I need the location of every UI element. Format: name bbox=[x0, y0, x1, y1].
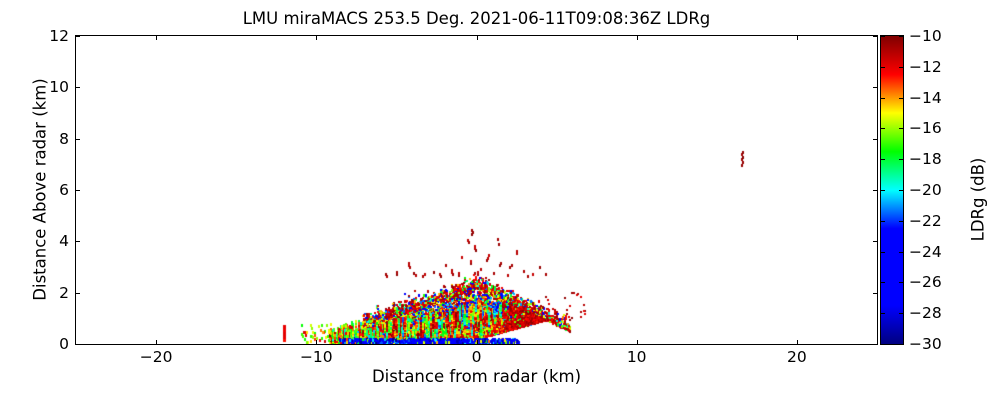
y-tick-label: 0 bbox=[59, 335, 69, 353]
x-tick-mark-top bbox=[637, 36, 638, 40]
y-tick-label: 4 bbox=[59, 232, 69, 250]
y-tick-mark-right bbox=[873, 241, 877, 242]
y-tick-mark bbox=[76, 344, 80, 345]
y-tick-mark-right bbox=[873, 190, 877, 191]
x-tick-mark bbox=[797, 340, 798, 344]
colorbar-tick-mark bbox=[899, 221, 903, 222]
colorbar-tick-mark bbox=[899, 159, 903, 160]
colorbar-tick-mark bbox=[899, 98, 903, 99]
y-tick-label: 6 bbox=[59, 181, 69, 199]
colorbar-tick-mark bbox=[899, 67, 903, 68]
colorbar-tick-label: −28 bbox=[909, 304, 942, 322]
y-tick-mark bbox=[76, 139, 80, 140]
y-tick-mark-right bbox=[873, 293, 877, 294]
colorbar[interactable] bbox=[880, 35, 904, 345]
colorbar-tick-mark bbox=[899, 128, 903, 129]
colorbar-tick-mark-left bbox=[881, 36, 885, 37]
x-axis-label: Distance from radar (km) bbox=[75, 367, 878, 386]
x-tick-mark-top bbox=[477, 36, 478, 40]
x-tick-label: −20 bbox=[140, 348, 173, 366]
colorbar-tick-mark-left bbox=[881, 159, 885, 160]
x-tick-label: −10 bbox=[300, 348, 333, 366]
colorbar-tick-mark-left bbox=[881, 344, 885, 345]
x-tick-label: 10 bbox=[627, 348, 647, 366]
y-tick-mark-right bbox=[873, 139, 877, 140]
colorbar-tick-mark bbox=[899, 282, 903, 283]
colorbar-tick-mark bbox=[899, 313, 903, 314]
y-tick-label: 12 bbox=[49, 27, 69, 45]
y-tick-mark bbox=[76, 36, 80, 37]
y-tick-mark bbox=[76, 190, 80, 191]
figure-canvas: LMU miraMACS 253.5 Deg. 2021-06-11T09:08… bbox=[0, 0, 1000, 400]
colorbar-tick-mark-left bbox=[881, 190, 885, 191]
colorbar-tick-label: −12 bbox=[909, 58, 942, 76]
scatter-plot-area[interactable] bbox=[76, 36, 877, 344]
colorbar-tick-mark bbox=[899, 190, 903, 191]
y-tick-mark-right bbox=[873, 344, 877, 345]
y-tick-label: 2 bbox=[59, 284, 69, 302]
colorbar-tick-label: −24 bbox=[909, 243, 942, 261]
x-tick-label: 20 bbox=[787, 348, 807, 366]
colorbar-tick-mark bbox=[899, 344, 903, 345]
colorbar-tick-mark-left bbox=[881, 98, 885, 99]
colorbar-tick-label: −18 bbox=[909, 150, 942, 168]
colorbar-tick-mark-left bbox=[881, 128, 885, 129]
y-tick-mark bbox=[76, 293, 80, 294]
y-tick-label: 10 bbox=[49, 78, 69, 96]
x-tick-mark-top bbox=[156, 36, 157, 40]
colorbar-tick-label: −14 bbox=[909, 89, 942, 107]
colorbar-tick-label: −10 bbox=[909, 27, 942, 45]
colorbar-label: LDRg (dB) bbox=[969, 100, 988, 300]
colorbar-tick-label: −16 bbox=[909, 119, 942, 137]
y-axis-label: Distance Above radar (km) bbox=[31, 40, 50, 340]
x-tick-mark bbox=[316, 340, 317, 344]
colorbar-tick-mark-left bbox=[881, 252, 885, 253]
x-tick-mark-top bbox=[316, 36, 317, 40]
colorbar-tick-label: −20 bbox=[909, 181, 942, 199]
colorbar-tick-mark bbox=[899, 252, 903, 253]
x-tick-mark bbox=[156, 340, 157, 344]
x-tick-mark bbox=[637, 340, 638, 344]
colorbar-tick-label: −30 bbox=[909, 335, 942, 353]
x-tick-label: 0 bbox=[472, 348, 482, 366]
page-title: LMU miraMACS 253.5 Deg. 2021-06-11T09:08… bbox=[75, 9, 878, 28]
y-tick-mark-right bbox=[873, 87, 877, 88]
plot-axes[interactable] bbox=[75, 35, 878, 345]
y-tick-mark bbox=[76, 241, 80, 242]
colorbar-tick-mark bbox=[899, 36, 903, 37]
colorbar-tick-mark-left bbox=[881, 313, 885, 314]
y-tick-mark bbox=[76, 87, 80, 88]
y-tick-label: 8 bbox=[59, 130, 69, 148]
colorbar-tick-mark-left bbox=[881, 221, 885, 222]
colorbar-tick-label: −26 bbox=[909, 273, 942, 291]
y-tick-mark-right bbox=[873, 36, 877, 37]
x-tick-mark bbox=[477, 340, 478, 344]
colorbar-tick-label: −22 bbox=[909, 212, 942, 230]
colorbar-tick-mark-left bbox=[881, 67, 885, 68]
x-tick-mark-top bbox=[797, 36, 798, 40]
colorbar-tick-mark-left bbox=[881, 282, 885, 283]
